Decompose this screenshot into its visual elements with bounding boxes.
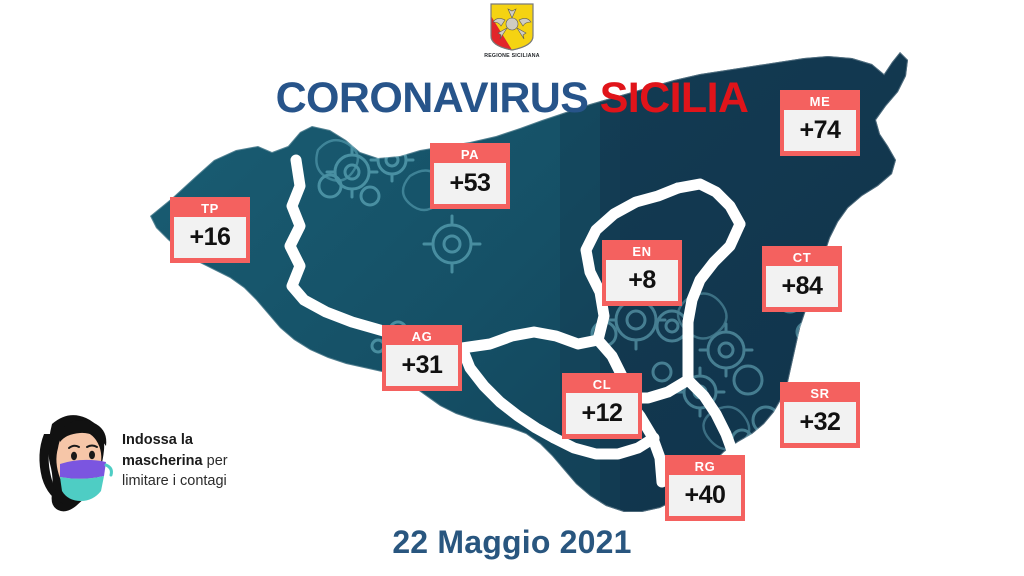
mask-line1: Indossa la	[122, 432, 193, 448]
mask-line2: mascherina	[122, 453, 203, 469]
badge-value: +16	[174, 217, 246, 258]
badge-value: +32	[784, 402, 856, 443]
badge-code-label: RG	[669, 458, 741, 475]
emblem-caption: REGIONE SICILIANA	[484, 53, 540, 59]
page-title: CORONAVIRUS SICILIA	[0, 74, 1024, 123]
badge-value: +84	[766, 266, 838, 307]
badge-code-label: SR	[784, 385, 856, 402]
badge-value: +8	[606, 260, 678, 301]
badge-code-label: PA	[434, 146, 506, 163]
badge-value: +74	[784, 110, 856, 151]
badge-code-label: EN	[606, 243, 678, 260]
title-coronavirus: CORONAVIRUS	[276, 74, 589, 122]
badge-code-label: ME	[784, 93, 856, 110]
province-badge-cl: CL+12	[562, 373, 642, 439]
title-sicilia: SICILIA	[600, 74, 749, 122]
badge-value: +53	[434, 163, 506, 204]
mask-line2-rest: per	[203, 453, 228, 469]
mask-advice-note: Indossa la mascherina per limitare i con…	[26, 408, 286, 513]
masked-woman-icon	[26, 408, 118, 513]
badge-code-label: TP	[174, 200, 246, 217]
province-badge-tp: TP+16	[170, 197, 250, 263]
badge-value: +31	[386, 345, 458, 386]
mask-line3: limitare i contagi	[122, 473, 227, 489]
trinacria-shield-icon	[489, 2, 535, 52]
province-badge-rg: RG+40	[665, 455, 745, 521]
badge-code-label: CL	[566, 376, 638, 393]
date-label: 22 Maggio 2021	[0, 524, 1024, 561]
mask-advice-text: Indossa la mascherina per limitare i con…	[122, 430, 292, 492]
province-badge-ct: CT+84	[762, 246, 842, 312]
badge-value: +12	[566, 393, 638, 434]
regione-siciliana-emblem: REGIONE SICILIANA	[484, 2, 540, 59]
infographic-root: REGIONE SICILIANA CORONAVIRUS SICILIA TP…	[0, 0, 1024, 576]
badge-code-label: AG	[386, 328, 458, 345]
province-badge-pa: PA+53	[430, 143, 510, 209]
province-badge-en: EN+8	[602, 240, 682, 306]
province-badge-me: ME+74	[780, 90, 860, 156]
badge-code-label: CT	[766, 249, 838, 266]
province-badge-sr: SR+32	[780, 382, 860, 448]
province-badge-ag: AG+31	[382, 325, 462, 391]
badge-value: +40	[669, 475, 741, 516]
